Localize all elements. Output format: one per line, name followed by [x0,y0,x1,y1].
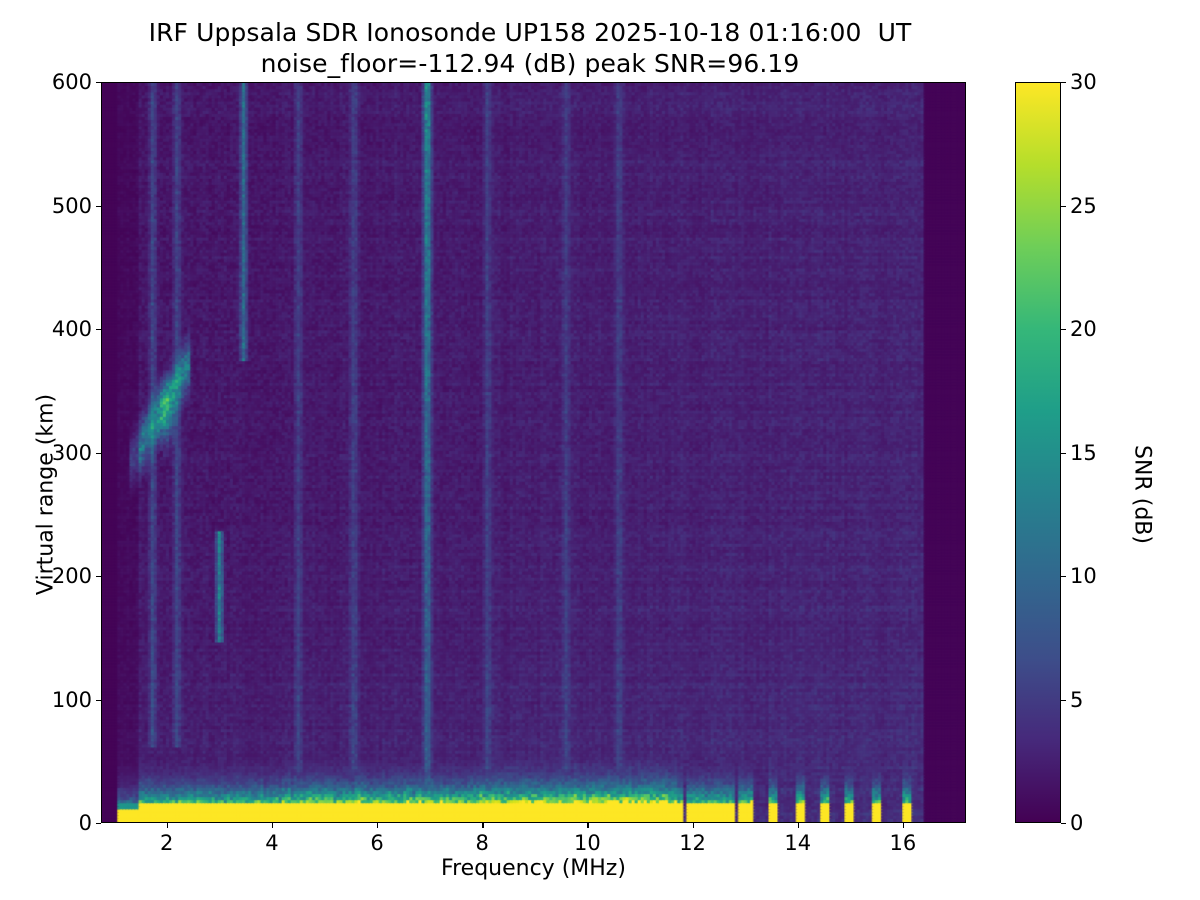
ionogram-figure: IRF Uppsala SDR Ionosonde UP158 2025-10-… [0,0,1200,900]
title-line-1: IRF Uppsala SDR Ionosonde UP158 2025-10-… [0,18,1060,49]
ionogram-heatmap [102,83,965,822]
x-tick [377,823,378,828]
y-tick [96,206,101,207]
y-tick-label: 600 [52,70,92,94]
x-tick-label: 12 [679,831,706,855]
y-tick [96,576,101,577]
y-tick [96,82,101,83]
colorbar-tick [1061,82,1066,83]
colorbar-tick-label: 20 [1070,317,1097,341]
colorbar-title-wrap: SNR (dB) [1118,82,1148,823]
x-tick [272,823,273,828]
colorbar-title: SNR (dB) [1130,235,1155,755]
colorbar-tick [1061,700,1066,701]
x-tick [167,823,168,828]
x-tick-marks [101,823,966,829]
x-axis-title: Frequency (MHz) [101,856,966,881]
colorbar-tick-label: 25 [1070,194,1097,218]
x-tick [587,823,588,828]
plot-title: IRF Uppsala SDR Ionosonde UP158 2025-10-… [0,18,1060,79]
colorbar-tick-label: 30 [1070,70,1097,94]
colorbar-tick [1061,206,1066,207]
x-tick-label: 2 [160,831,173,855]
colorbar-tick-label: 10 [1070,564,1097,588]
y-tick-label: 500 [52,194,92,218]
colorbar-tick [1061,453,1066,454]
x-tick [693,823,694,828]
x-tick [482,823,483,828]
y-tick-label: 0 [79,811,92,835]
x-tick-label: 16 [890,831,917,855]
x-tick-label: 8 [476,831,489,855]
x-tick [798,823,799,828]
colorbar [1015,82,1061,823]
y-tick [96,329,101,330]
colorbar-tick [1061,576,1066,577]
x-tick-label: 14 [784,831,811,855]
colorbar-tick-label: 5 [1070,688,1083,712]
colorbar-tick [1061,329,1066,330]
y-axis-title-wrap: Virtual range (km) [22,82,52,823]
title-line-2: noise_floor=-112.94 (dB) peak SNR=96.19 [0,49,1060,80]
heatmap-axes [101,82,966,823]
x-tick-label: 6 [370,831,383,855]
colorbar-tick [1061,823,1066,824]
x-tick-label: 4 [265,831,278,855]
x-tick [903,823,904,828]
y-tick [96,453,101,454]
y-axis-title: Virtual range (km) [34,235,59,755]
colorbar-tick-label: 0 [1070,811,1083,835]
colorbar-tick-label: 15 [1070,441,1097,465]
y-tick [96,700,101,701]
x-tick-label: 10 [574,831,601,855]
